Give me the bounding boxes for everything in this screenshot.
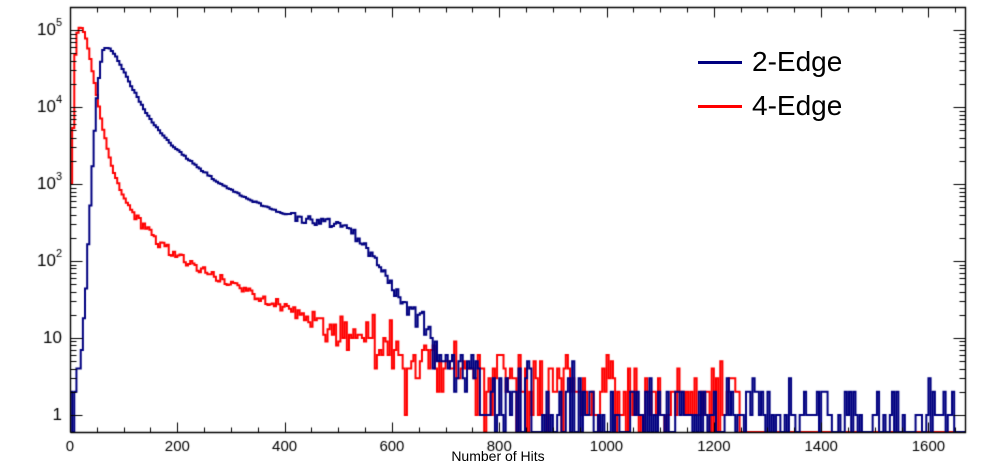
chart-container: Number of Hits 2-Edge 4-Edge <box>0 0 996 472</box>
legend-label-2-edge: 2-Edge <box>752 48 842 76</box>
chart-legend: 2-Edge 4-Edge <box>698 40 842 128</box>
histogram-canvas <box>0 0 996 472</box>
legend-label-4-edge: 4-Edge <box>752 92 842 120</box>
legend-entry-4-edge[interactable]: 4-Edge <box>698 84 842 128</box>
legend-entry-2-edge[interactable]: 2-Edge <box>698 40 842 84</box>
legend-swatch-2-edge <box>698 61 742 64</box>
x-axis-title: Number of Hits <box>0 448 996 464</box>
legend-swatch-4-edge <box>698 105 742 108</box>
